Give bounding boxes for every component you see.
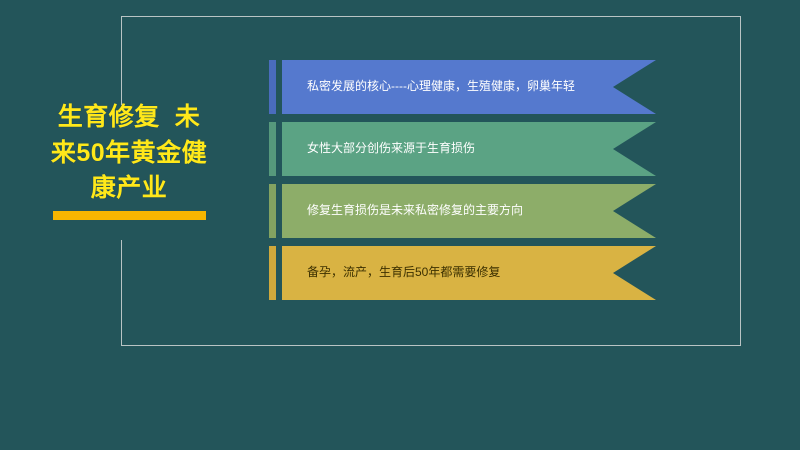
ribbon-label: 女性大部分创伤来源于生育损伤 (282, 141, 523, 157)
ribbon-body[interactable]: 修复生育损伤是未来私密修复的主要方向 (282, 184, 656, 238)
ribbon-body[interactable]: 备孕，流产，生育后50年都需要修复 (282, 246, 656, 300)
slide-canvas: 生育修复 未 来50年黄金健 康产业 私密发展的核心----心理健康，生殖健康，… (0, 0, 800, 450)
ribbon-body[interactable]: 女性大部分创伤来源于生育损伤 (282, 122, 656, 176)
ribbon-label: 修复生育损伤是未来私密修复的主要方向 (282, 203, 571, 219)
ribbon-body[interactable]: 私密发展的核心----心理健康，生殖健康，卵巢年轻 (282, 60, 656, 114)
ribbon-accent-bar (269, 122, 276, 176)
ribbon-accent-bar (269, 60, 276, 114)
ribbon-label: 备孕，流产，生育后50年都需要修复 (282, 265, 548, 281)
ribbon-accent-bar (269, 184, 276, 238)
ribbon-label: 私密发展的核心----心理健康，生殖健康，卵巢年轻 (282, 79, 623, 95)
ribbon-accent-bar (269, 246, 276, 300)
ribbon-list: 私密发展的核心----心理健康，生殖健康，卵巢年轻女性大部分创伤来源于生育损伤修… (0, 0, 800, 450)
